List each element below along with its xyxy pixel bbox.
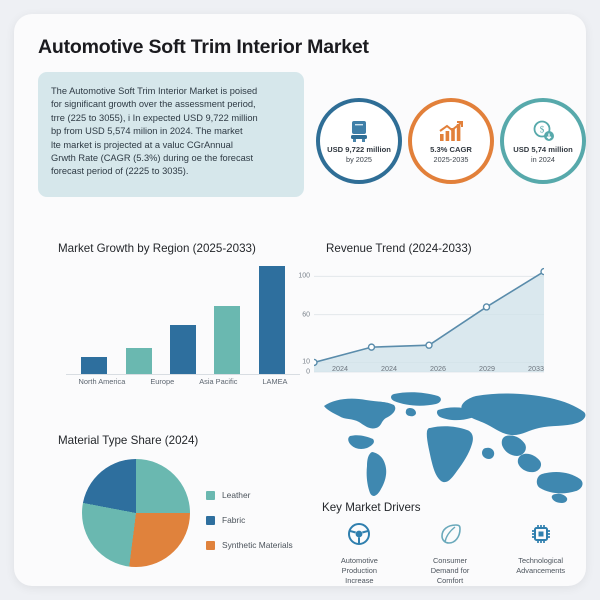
stat-badge-cagr: 5.3% CAGR 2025-2035	[408, 98, 494, 184]
line-x-label: 2029	[479, 364, 495, 373]
bar	[214, 306, 240, 374]
bar-chart-axis	[66, 374, 300, 375]
stat-badge-value: 5.3% CAGR	[430, 145, 472, 155]
line-y-label: 60	[302, 311, 310, 318]
bar-chart-title: Market Growth by Region (2025-2033)	[58, 242, 256, 255]
market-summary-text: The Automotive Soft Trim Interior Market…	[51, 85, 297, 179]
line-chart-x-labels: 20242024202620292033	[332, 364, 544, 373]
bar	[81, 357, 107, 374]
infographic-card: Automotive Soft Trim Interior Market The…	[14, 14, 586, 586]
bar	[126, 348, 152, 374]
line-y-label: 100	[298, 273, 310, 280]
legend-item: Fabric	[206, 515, 293, 525]
bar	[170, 325, 196, 374]
stat-badge-period: by 2025	[346, 155, 372, 165]
stat-badge-value: USD 9,722 million	[327, 145, 391, 155]
legend-label: Synthetic Materials	[222, 540, 293, 550]
world-map	[310, 392, 586, 504]
line-x-label: 2033	[528, 364, 544, 373]
legend-label: Fabric	[222, 515, 245, 525]
svg-text:$: $	[540, 125, 545, 135]
line-y-label: 10	[302, 359, 310, 366]
line-x-label: 2024	[332, 364, 348, 373]
legend-item: Synthetic Materials	[206, 540, 293, 550]
bar-x-label: Europe	[150, 377, 174, 386]
pie-chart-legend: LeatherFabricSynthetic Materials	[206, 490, 293, 565]
dollar-coin-icon: $	[531, 118, 555, 144]
bar-x-label: North America	[79, 377, 126, 386]
steering-wheel-icon	[347, 522, 371, 551]
legend-label: Leather	[222, 490, 250, 500]
legend-item: Leather	[206, 490, 293, 500]
driver-item: Automotive Production Increase	[314, 522, 405, 586]
drivers-title: Key Market Drivers	[322, 501, 421, 514]
stat-badge-period: 2025-2035	[434, 155, 469, 165]
stat-badge-value: USD 5,74 million	[513, 145, 573, 155]
driver-label: Automotive Production Increase	[341, 556, 378, 586]
legend-swatch	[206, 541, 215, 550]
line-chart-title: Revenue Trend (2024-2033)	[326, 242, 472, 255]
bar-chart-plot	[72, 266, 294, 374]
legend-swatch	[206, 491, 215, 500]
line-chart-plot: 01060100	[314, 262, 544, 372]
bar-x-label: LAMEA	[262, 377, 287, 386]
key-market-drivers: Automotive Production Increase Consumer …	[314, 522, 586, 586]
driver-label: Technological Advancements	[516, 556, 565, 576]
driver-item: Technological Advancements	[495, 522, 586, 586]
infographic-page: Automotive Soft Trim Interior Market The…	[0, 0, 600, 600]
market-summary-panel: The Automotive Soft Trim Interior Market…	[38, 72, 304, 197]
stat-badge-period: in 2024	[531, 155, 555, 165]
stat-badges: USD 9,722 million by 2025 5.3% CAGR 2025…	[312, 96, 586, 188]
line-x-label: 2024	[381, 364, 397, 373]
bar	[259, 266, 285, 374]
pie-chart-title: Material Type Share (2024)	[58, 434, 198, 447]
legend-swatch	[206, 516, 215, 525]
microchip-icon	[529, 522, 553, 551]
line-x-label: 2026	[430, 364, 446, 373]
pie-chart-plot	[82, 459, 190, 567]
growth-chart-icon	[438, 118, 464, 144]
bar-x-label: Asia Pacific	[199, 377, 237, 386]
bar-chart-x-labels: North AmericaEuropeAsia PacificLAMEA	[66, 377, 300, 386]
driver-item: Consumer Demand for Comfort	[405, 522, 496, 586]
line-y-label: 0	[306, 369, 310, 376]
stat-badge-market-size-2024: $ USD 5,74 million in 2024	[500, 98, 586, 184]
stat-badge-market-size-2025: USD 9,722 million by 2025	[316, 98, 402, 184]
driver-label: Consumer Demand for Comfort	[431, 556, 470, 586]
car-seat-icon	[348, 118, 370, 144]
page-title: Automotive Soft Trim Interior Market	[38, 36, 369, 59]
leaf-icon	[438, 522, 462, 551]
